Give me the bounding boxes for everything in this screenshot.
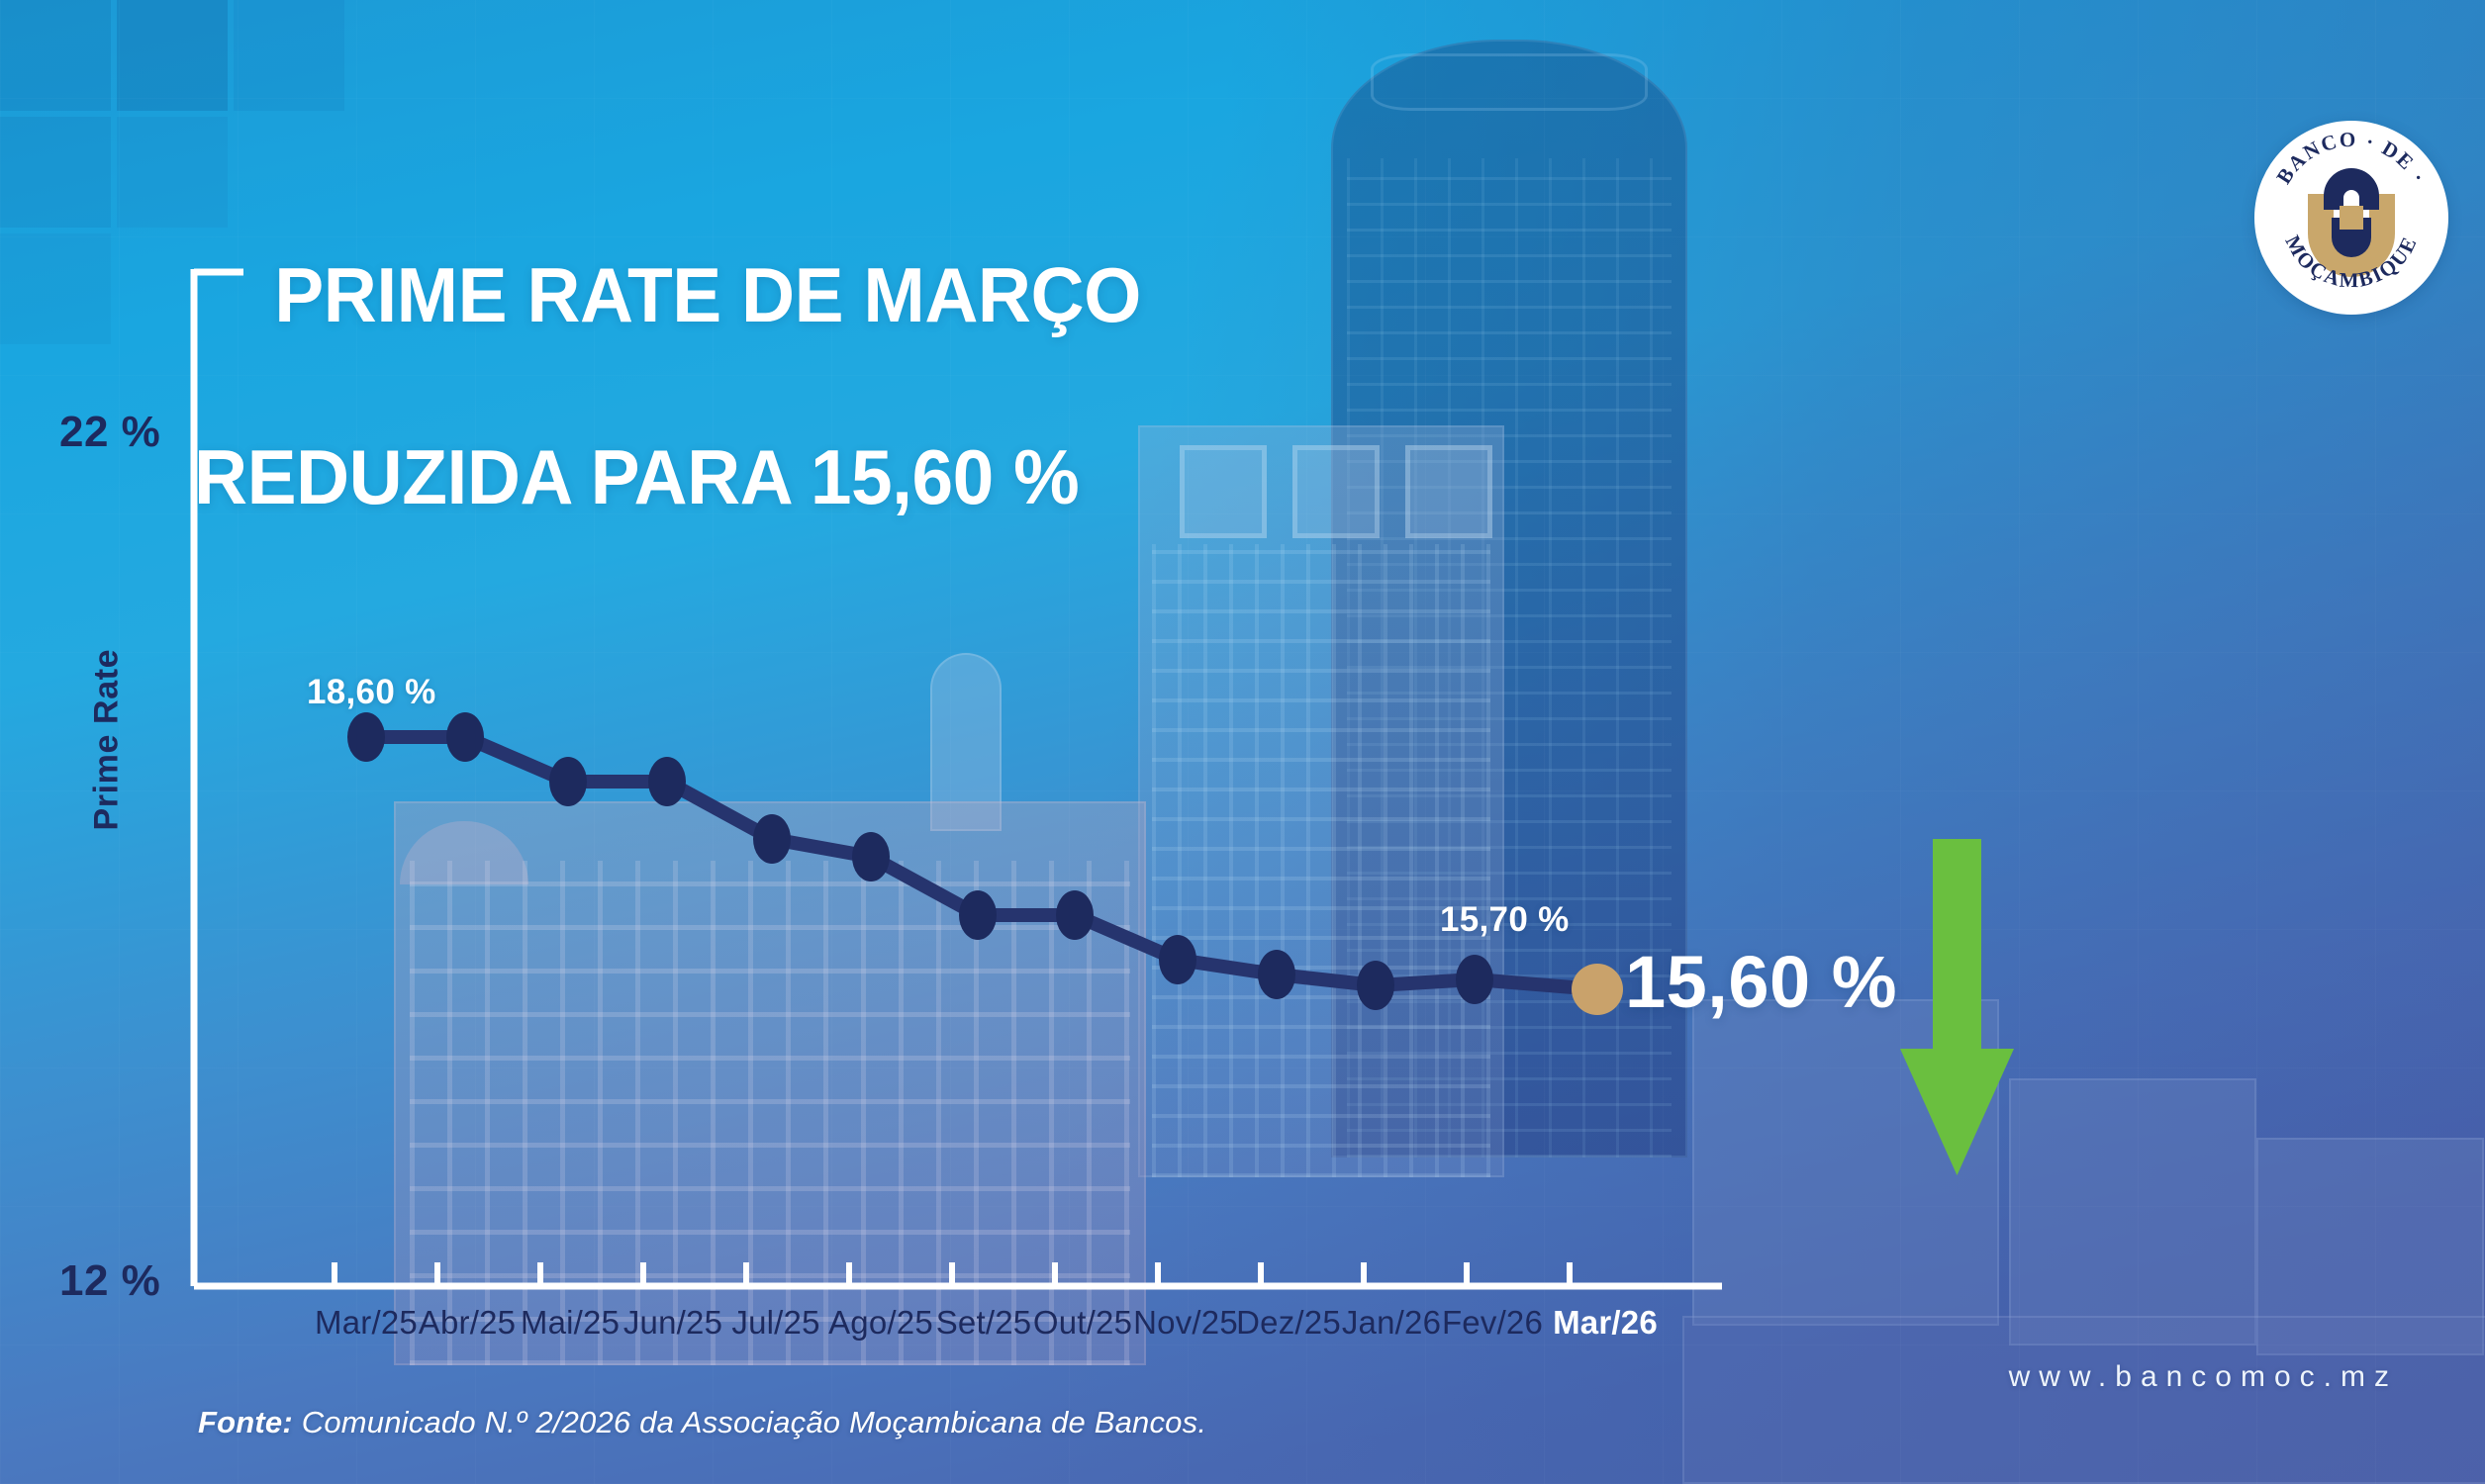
x-tick-label: Fev/26 bbox=[1442, 1304, 1543, 1342]
x-tick-label: Dez/25 bbox=[1236, 1304, 1341, 1342]
source-text: Comunicado N.º 2/2026 da Associação Moça… bbox=[302, 1405, 1206, 1439]
x-tick-label: Mai/25 bbox=[521, 1304, 620, 1342]
website-url: www.bancomoc.mz bbox=[2009, 1360, 2398, 1394]
infographic-canvas: PRIME RATE DE MARÇO REDUZIDA PARA 15,60 … bbox=[0, 0, 2485, 1484]
y-axis-label-max: 22 % bbox=[59, 408, 160, 457]
x-tick-label-current: Mar/26 bbox=[1553, 1304, 1658, 1342]
x-tick-label: Jan/26 bbox=[1342, 1304, 1441, 1342]
x-tick-label: Ago/25 bbox=[828, 1304, 933, 1342]
down-arrow-icon bbox=[1900, 839, 2014, 1175]
y-axis-title: Prime Rate bbox=[88, 772, 127, 831]
x-tick-label: Jul/25 bbox=[731, 1304, 819, 1342]
source-label: Fonte: bbox=[198, 1405, 293, 1439]
x-tick-label: Mar/25 bbox=[315, 1304, 418, 1342]
current-value-callout: 15,60 % bbox=[1625, 940, 1897, 1024]
x-tick-label: Abr/25 bbox=[419, 1304, 516, 1342]
y-axis-label-min: 12 % bbox=[59, 1256, 160, 1306]
data-annotation-first: 18,60 % bbox=[307, 673, 436, 712]
x-tick-label: Set/25 bbox=[936, 1304, 1032, 1342]
x-tick-label: Out/25 bbox=[1033, 1304, 1132, 1342]
data-annotation-previous: 15,70 % bbox=[1440, 900, 1570, 940]
x-axis-ticks bbox=[335, 1262, 1570, 1286]
prime-rate-line-chart: 22 % 12 % Prime Rate Mar/25 Abr/25 Mai/2… bbox=[0, 0, 2485, 1484]
x-tick-label: Jun/25 bbox=[623, 1304, 722, 1342]
source-note: Fonte: Comunicado N.º 2/2026 da Associaç… bbox=[198, 1405, 1206, 1440]
x-tick-label: Nov/25 bbox=[1133, 1304, 1238, 1342]
current-value-marker bbox=[1572, 964, 1623, 1015]
